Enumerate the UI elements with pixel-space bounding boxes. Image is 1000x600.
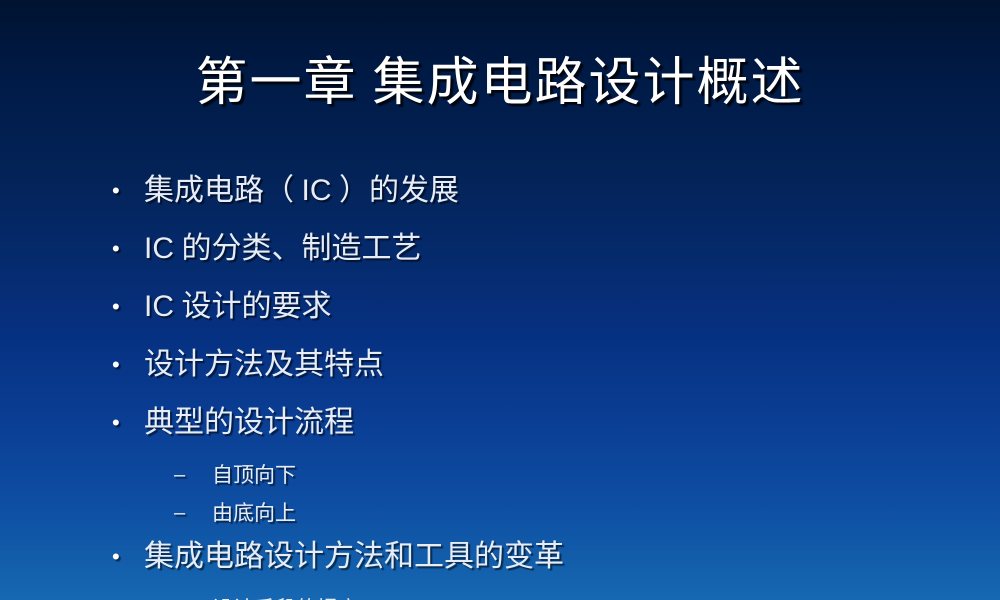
- bullet-dot-icon: •: [112, 228, 144, 270]
- list-item: •典型的设计流程: [112, 402, 972, 444]
- list-item: •集成电路（ IC ）的发展: [112, 170, 972, 212]
- outline-bullet-list: •集成电路（ IC ）的发展•IC 的分类、制造工艺•IC 设计的要求•设计方法…: [112, 170, 972, 600]
- label-cjk-run: 集成电路（: [144, 174, 302, 207]
- list-item: •设计方法及其特点: [112, 344, 972, 386]
- list-item-label: 设计手段的提高: [212, 594, 972, 600]
- bullet-dash-icon: –: [174, 594, 212, 600]
- label-latin-run: IC: [144, 290, 174, 323]
- label-cjk-run: 的分类、制造工艺: [174, 232, 422, 265]
- list-item: •集成电路设计方法和工具的变革: [112, 536, 972, 578]
- list-item-label: IC 设计的要求: [144, 286, 972, 328]
- bullet-dot-icon: •: [112, 402, 144, 444]
- list-item: –设计手段的提高: [174, 594, 972, 600]
- label-latin-run: IC: [144, 232, 174, 265]
- list-item-label: 自顶向下: [212, 460, 972, 490]
- bullet-dot-icon: •: [112, 344, 144, 386]
- label-cjk-run: 设计的要求: [174, 290, 332, 323]
- bullet-dot-icon: •: [112, 170, 144, 212]
- bullet-dash-icon: –: [174, 460, 212, 490]
- label-cjk-run: ）的发展: [332, 174, 460, 207]
- bullet-dash-icon: –: [174, 498, 212, 528]
- list-item: –自顶向下: [174, 460, 972, 490]
- list-item-label: 典型的设计流程: [144, 402, 972, 444]
- list-item: –由底向上: [174, 498, 972, 528]
- list-item: •IC 的分类、制造工艺: [112, 228, 972, 270]
- bullet-dot-icon: •: [112, 536, 144, 578]
- label-latin-run: IC: [302, 174, 332, 207]
- list-item-label: 设计方法及其特点: [144, 344, 972, 386]
- list-item-label: 由底向上: [212, 498, 972, 528]
- list-item-label: 集成电路设计方法和工具的变革: [144, 536, 972, 578]
- list-item: •IC 设计的要求: [112, 286, 972, 328]
- page-title: 第一章 集成电路设计概述: [0, 52, 1000, 116]
- bullet-dot-icon: •: [112, 286, 144, 328]
- list-item-label: 集成电路（ IC ）的发展: [144, 170, 972, 212]
- presentation-slide: 第一章 集成电路设计概述 •集成电路（ IC ）的发展•IC 的分类、制造工艺•…: [0, 0, 1000, 600]
- list-item-label: IC 的分类、制造工艺: [144, 228, 972, 270]
